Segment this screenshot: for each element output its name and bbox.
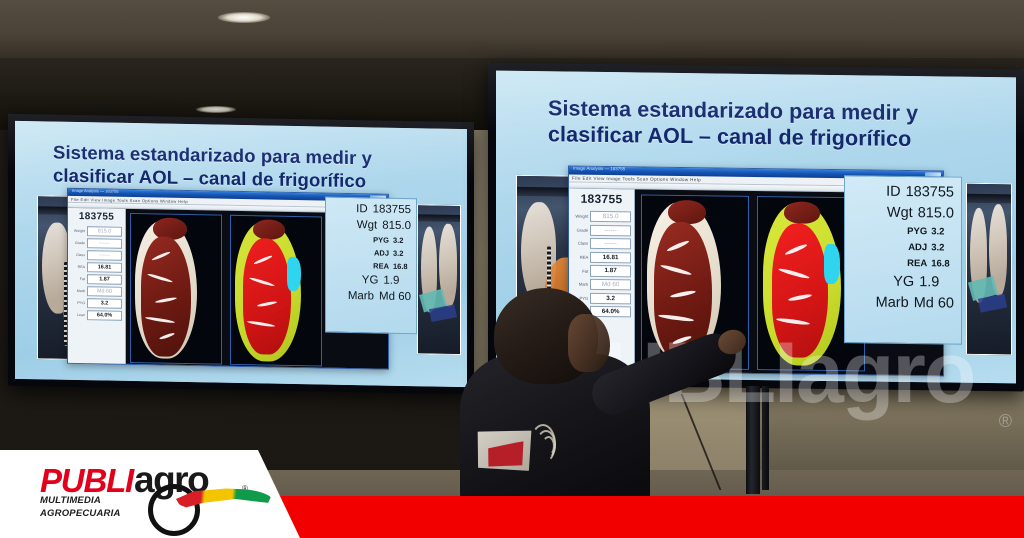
left-screen: Sistema estandarizado para medir y clasi… (15, 121, 467, 387)
results-label: PYG (373, 235, 389, 244)
results-row: PYG3.2 (849, 225, 954, 237)
sidebar-field-value[interactable]: 16.81 (590, 252, 631, 264)
presenter-face (568, 314, 610, 372)
right-app-title-text: Image Analysis — 183755 (573, 166, 625, 172)
presenter (418, 288, 718, 500)
sidebar-field-row: REA16.81 (572, 251, 631, 263)
left-ribeye-segmented (230, 215, 322, 367)
logo-subtitle: MULTIMEDIA AGROPECUARIA (40, 495, 121, 521)
sidebar-field-label: PYG (71, 301, 85, 305)
sidebar-field-label: Fat (572, 268, 588, 273)
sidebar-field-row: Weight815.0 (572, 211, 631, 223)
sidebar-field-row: Weight815.0 (71, 226, 122, 237)
ceiling-light-icon (218, 12, 270, 23)
results-label: REA (373, 261, 389, 270)
logo-subtitle-line2: AGROPECUARIA (40, 508, 121, 519)
results-row: Wgt815.0 (329, 219, 411, 233)
results-label: ADJ (908, 242, 927, 253)
sidebar-field-label: Class (572, 241, 588, 246)
ceiling (0, 0, 1024, 62)
sidebar-field-value[interactable]: ------ (87, 250, 122, 261)
results-row: MarbMd 60 (849, 294, 954, 311)
left-slide-title: Sistema estandarizado para medir y clasi… (53, 142, 453, 194)
sidebar-field-value[interactable]: ------ (590, 238, 631, 250)
results-value: 1.9 (383, 275, 411, 288)
results-label: Wgt (357, 219, 377, 231)
sidebar-field-label: Weight (572, 214, 588, 219)
results-value: Md 60 (379, 291, 411, 304)
results-label: REA (907, 258, 927, 269)
sidebar-field-label: Weight (71, 229, 85, 233)
sidebar-field-row: Fat1.87 (71, 274, 122, 285)
results-row: ID183755 (329, 203, 411, 217)
results-row: PYG3.2 (329, 235, 411, 246)
sidebar-field-value[interactable]: 815.0 (590, 211, 631, 223)
presenter-arc-graphic (530, 424, 560, 470)
sidebar-field-row: Class------ (71, 250, 122, 261)
results-label: Marb (876, 295, 909, 311)
results-label: ID (356, 203, 368, 215)
left-monitor: Sistema estandarizado para medir y clasi… (8, 114, 474, 395)
results-row: ADJ3.2 (329, 248, 411, 259)
sidebar-field-row: MarbMd 60 (71, 286, 122, 297)
sidebar-field-value[interactable]: ------ (590, 224, 631, 236)
results-label: ID (886, 184, 901, 200)
results-label: PYG (907, 226, 927, 237)
results-value: 815.0 (382, 220, 411, 233)
right-slide-title: Sistema estandarizado para medir y clasi… (548, 95, 1000, 153)
publiagro-logo[interactable]: PUBLI agro ® MULTIMEDIA AGROPECUARIA (26, 462, 276, 524)
sidebar-field-value[interactable]: 16.81 (87, 262, 122, 273)
sidebar-field-row: Grade------ (572, 224, 631, 236)
sidebar-field-label: Grade (572, 227, 588, 232)
sidebar-field-label: Fat (71, 277, 85, 281)
logo-subtitle-line1: MULTIMEDIA (40, 495, 101, 506)
sidebar-field-label: REA (71, 265, 85, 269)
presenter-logo-patch (473, 424, 537, 478)
ceiling-light-icon (196, 106, 236, 113)
results-value: 3.2 (393, 249, 411, 258)
logo-ring-icon (148, 484, 200, 536)
sidebar-field-label: Grade (71, 241, 85, 245)
results-label: ADJ (374, 248, 389, 257)
results-row: MarbMd 60 (329, 290, 411, 304)
left-app-title-text: Image Analysis — 183755 (72, 188, 118, 194)
results-value: 1.9 (919, 274, 954, 290)
left-sidebar-id: 183755 (71, 211, 122, 223)
left-app-sidebar: 183755 Weight815.0Grade------Class------… (68, 208, 126, 364)
sidebar-field-value[interactable]: Md 60 (87, 286, 122, 297)
sidebar-field-row: REA16.81 (71, 262, 122, 273)
results-value: 3.2 (931, 242, 954, 253)
sidebar-field-label: Class (71, 253, 85, 257)
right-sidebar-id: 183755 (572, 192, 631, 207)
results-row: Wgt815.0 (849, 204, 954, 221)
results-value: 815.0 (918, 205, 954, 221)
carcass-right-photo (966, 183, 1012, 356)
results-row: REA16.8 (329, 261, 411, 272)
results-label: Marb (348, 290, 374, 302)
sidebar-field-value[interactable]: 64.0% (87, 310, 122, 321)
sidebar-field-row: Grade------ (71, 238, 122, 249)
sidebar-field-row: Class------ (572, 238, 631, 250)
sidebar-field-value[interactable]: 1.87 (87, 274, 122, 285)
sidebar-field-row: PYG3.2 (71, 298, 122, 309)
sidebar-field-row: Fat1.87 (572, 265, 631, 277)
left-slide: Sistema estandarizado para medir y clasi… (15, 121, 467, 387)
results-row: YG1.9 (849, 273, 954, 290)
sidebar-field-value[interactable]: 3.2 (87, 298, 122, 309)
left-sidebar-rows: Weight815.0Grade------Class------REA16.8… (71, 226, 122, 321)
sidebar-field-label: Marb (71, 289, 85, 293)
sidebar-field-value[interactable]: 1.87 (590, 265, 631, 277)
sidebar-field-row: Lean64.0% (71, 310, 122, 321)
results-value: 3.2 (393, 236, 411, 245)
sidebar-field-value[interactable]: ------ (87, 238, 122, 249)
results-value: 16.8 (393, 262, 411, 271)
results-row: ID183755 (849, 183, 954, 200)
left-results-rows: ID183755Wgt815.0PYG3.2ADJ3.2REA16.8YG1.9… (326, 198, 416, 304)
results-value: 183755 (906, 184, 954, 201)
results-value: 16.8 (931, 258, 954, 269)
left-results-panel: ID183755Wgt815.0PYG3.2ADJ3.2REA16.8YG1.9… (325, 197, 417, 335)
screenshot-stage: Sistema estandarizado para medir y clasi… (0, 0, 1024, 538)
results-label: YG (362, 274, 379, 286)
sidebar-field-value[interactable]: 815.0 (87, 226, 122, 237)
right-results-rows: ID183755Wgt815.0PYG3.2ADJ3.2REA16.8YG1.9… (845, 176, 961, 312)
left-ribeye-raw (130, 213, 222, 365)
results-row: REA16.8 (849, 257, 954, 269)
sidebar-field-label: REA (572, 255, 588, 260)
slide-title-line2: clasificar AOL – canal de frigorífico (548, 121, 1000, 153)
results-row: YG1.9 (329, 274, 411, 288)
results-value: Md 60 (914, 295, 954, 312)
sidebar-field-label: Marb (572, 282, 588, 287)
results-label: YG (893, 274, 914, 290)
results-value: 3.2 (931, 226, 954, 237)
right-results-panel: ID183755Wgt815.0PYG3.2ADJ3.2REA16.8YG1.9… (844, 175, 962, 345)
results-value: 183755 (373, 203, 411, 216)
results-label: Wgt (887, 205, 913, 221)
sidebar-field-label: Lean (71, 313, 85, 317)
results-row: ADJ3.2 (849, 241, 954, 253)
